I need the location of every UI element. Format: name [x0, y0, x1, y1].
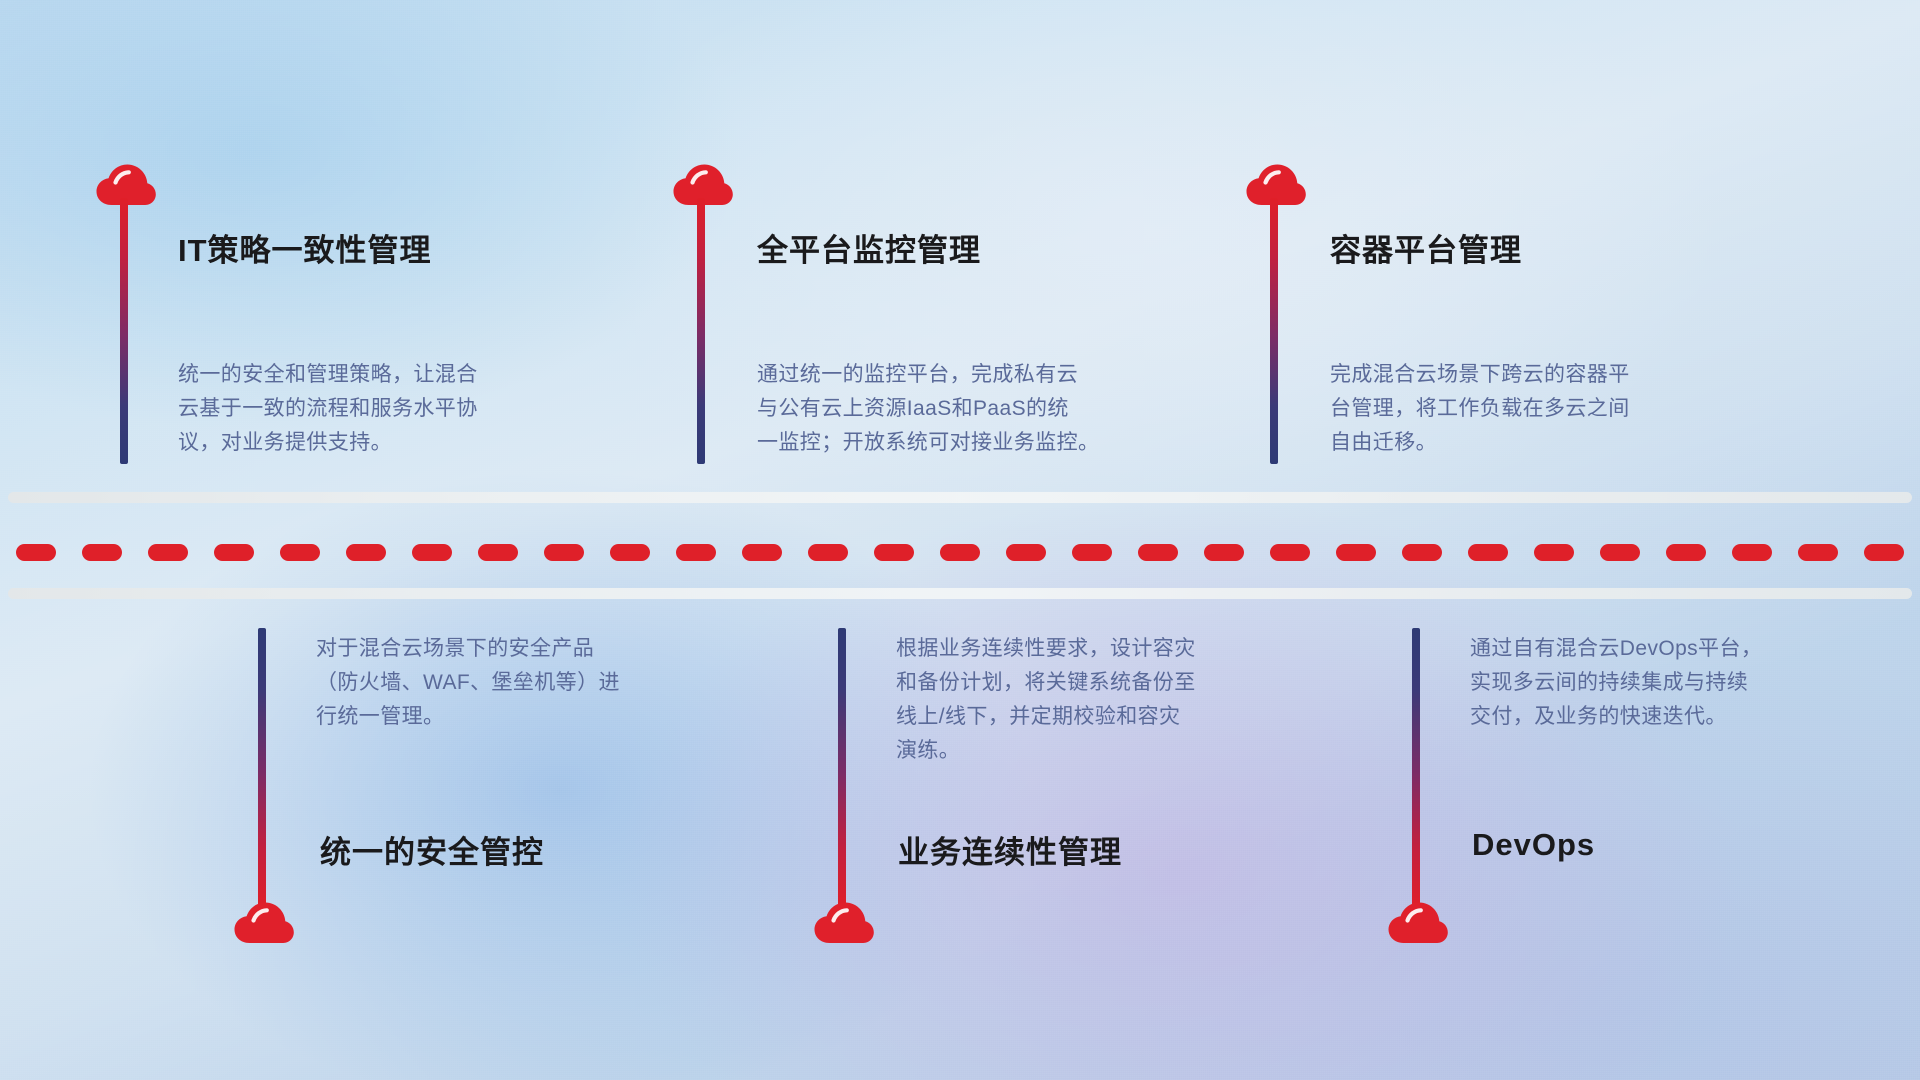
column-description: 通过统一的监控平台，完成私有云 与公有云上资源IaaS和PaaS的统 一监控；开… — [757, 358, 1197, 460]
column-description: 根据业务连续性要求，设计容灾 和备份计划，将关键系统备份至 线上/线下，并定期校… — [896, 632, 1336, 768]
divider-dash — [1468, 544, 1508, 561]
divider-dash — [1666, 544, 1706, 561]
timeline-stem — [1270, 198, 1278, 464]
description-line: 与公有云上资源IaaS和PaaS的统 — [757, 392, 1197, 426]
description-line: 对于混合云场景下的安全产品 — [316, 632, 746, 666]
divider-dash — [742, 544, 782, 561]
divider-dash — [1534, 544, 1574, 561]
description-line: 自由迁移。 — [1330, 426, 1760, 460]
description-line: 交付，及业务的快速迭代。 — [1470, 700, 1900, 734]
column-title: 业务连续性管理 — [898, 827, 1122, 872]
column-title: DevOps — [1472, 827, 1595, 863]
description-line: 线上/线下，并定期校验和容灾 — [896, 700, 1336, 734]
description-line: 演练。 — [896, 734, 1336, 768]
divider-dash — [346, 544, 386, 561]
description-line: 台管理，将工作负载在多云之间 — [1330, 392, 1760, 426]
divider-dash — [1204, 544, 1244, 561]
divider-dash — [1006, 544, 1046, 561]
description-line: （防火墙、WAF、堡垒机等）进 — [316, 666, 746, 700]
divider-dash — [808, 544, 848, 561]
divider-dash — [874, 544, 914, 561]
description-line: 实现多云间的持续集成与持续 — [1470, 666, 1900, 700]
description-line: 一监控；开放系统可对接业务监控。 — [757, 426, 1197, 460]
description-line: 云基于一致的流程和服务水平协 — [178, 392, 598, 426]
divider-dash — [1138, 544, 1178, 561]
description-line: 议，对业务提供支持。 — [178, 426, 598, 460]
divider-dash — [676, 544, 716, 561]
column-description: 完成混合云场景下跨云的容器平 台管理，将工作负载在多云之间 自由迁移。 — [1330, 358, 1760, 460]
divider-band-bottom — [8, 588, 1912, 599]
description-line: 通过统一的监控平台，完成私有云 — [757, 358, 1197, 392]
description-line: 根据业务连续性要求，设计容灾 — [896, 632, 1336, 666]
divider-dash — [1732, 544, 1772, 561]
infographic-canvas: IT策略一致性管理 统一的安全和管理策略，让混合 云基于一致的流程和服务水平协 … — [0, 0, 1920, 1080]
column-description: 对于混合云场景下的安全产品 （防火墙、WAF、堡垒机等）进 行统一管理。 — [316, 632, 746, 734]
description-line: 和备份计划，将关键系统备份至 — [896, 666, 1336, 700]
divider-dash — [148, 544, 188, 561]
description-line: 行统一管理。 — [316, 700, 746, 734]
divider-band-top — [8, 492, 1912, 503]
cloud-icon — [1387, 900, 1449, 944]
divider-dash — [214, 544, 254, 561]
divider-dash — [280, 544, 320, 561]
column-title: 全平台监控管理 — [757, 225, 981, 270]
divider-dash — [412, 544, 452, 561]
column-title: 容器平台管理 — [1330, 225, 1522, 270]
divider-dash — [610, 544, 650, 561]
column-title: 统一的安全管控 — [320, 827, 544, 872]
timeline-stem — [1412, 628, 1420, 908]
divider-dash — [1798, 544, 1838, 561]
description-line: 通过自有混合云DevOps平台， — [1470, 632, 1900, 666]
divider-dash — [82, 544, 122, 561]
divider-dash — [1072, 544, 1112, 561]
divider-dash — [940, 544, 980, 561]
timeline-stem — [838, 628, 846, 908]
timeline-stem — [120, 198, 128, 464]
timeline-stem — [697, 198, 705, 464]
divider-dash — [544, 544, 584, 561]
cloud-icon — [813, 900, 875, 944]
divider-dashed-line — [0, 544, 1920, 561]
divider-dash — [478, 544, 518, 561]
divider-dash — [1600, 544, 1640, 561]
divider-dash — [1864, 544, 1904, 561]
column-description: 统一的安全和管理策略，让混合 云基于一致的流程和服务水平协 议，对业务提供支持。 — [178, 358, 598, 460]
description-line: 统一的安全和管理策略，让混合 — [178, 358, 598, 392]
divider-dash — [1402, 544, 1442, 561]
column-description: 通过自有混合云DevOps平台， 实现多云间的持续集成与持续 交付，及业务的快速… — [1470, 632, 1900, 734]
cloud-icon — [233, 900, 295, 944]
description-line: 完成混合云场景下跨云的容器平 — [1330, 358, 1760, 392]
divider-dash — [16, 544, 56, 561]
divider-dash — [1336, 544, 1376, 561]
timeline-stem — [258, 628, 266, 908]
divider-dash — [1270, 544, 1310, 561]
column-title: IT策略一致性管理 — [178, 225, 432, 270]
